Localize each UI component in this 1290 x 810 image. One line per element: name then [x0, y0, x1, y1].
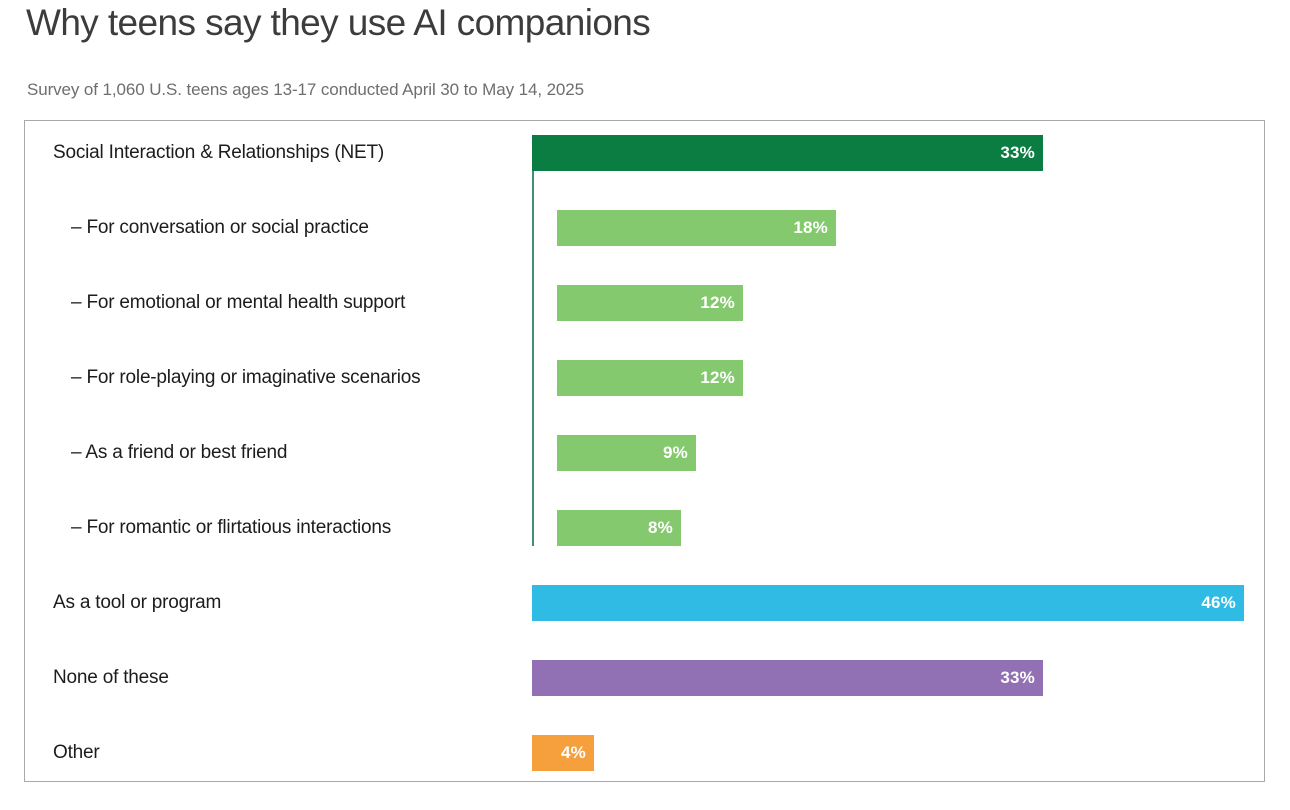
chart-row: As a tool or program46%	[25, 585, 1264, 621]
bar-value-label: 46%	[1201, 593, 1244, 613]
bar-net: 33%	[532, 135, 1043, 171]
bar-sub: 8%	[557, 510, 681, 546]
category-label: Other	[53, 742, 100, 764]
chart-row: None of these33%	[25, 660, 1264, 696]
bar-value-label: 8%	[648, 518, 681, 538]
chart-subtitle: Survey of 1,060 U.S. teens ages 13-17 co…	[27, 80, 584, 100]
chart-row: – For role-playing or imaginative scenar…	[25, 360, 1264, 396]
page-title: Why teens say they use AI companions	[26, 2, 650, 44]
bar-value-label: 33%	[1000, 143, 1043, 163]
bar-sub: 12%	[557, 285, 743, 321]
plot-area: Social Interaction & Relationships (NET)…	[24, 120, 1265, 782]
bar-sub: 9%	[557, 435, 696, 471]
chart-row: Social Interaction & Relationships (NET)…	[25, 135, 1264, 171]
category-label: – For romantic or flirtatious interactio…	[71, 517, 391, 539]
chart-row: Other4%	[25, 735, 1264, 771]
chart-row: – As a friend or best friend9%	[25, 435, 1264, 471]
category-label: Social Interaction & Relationships (NET)	[53, 142, 384, 164]
bar-value-label: 12%	[700, 368, 743, 388]
category-label: – For conversation or social practice	[71, 217, 369, 239]
bar-value-label: 4%	[561, 743, 594, 763]
chart-row: – For emotional or mental health support…	[25, 285, 1264, 321]
category-label: None of these	[53, 667, 169, 689]
bar-value-label: 9%	[663, 443, 696, 463]
bar-plain: 33%	[532, 660, 1043, 696]
bar-value-label: 12%	[700, 293, 743, 313]
category-label: – As a friend or best friend	[71, 442, 287, 464]
bar-plain: 46%	[532, 585, 1244, 621]
chart-row: – For romantic or flirtatious interactio…	[25, 510, 1264, 546]
bar-sub: 18%	[557, 210, 836, 246]
bar-plain: 4%	[532, 735, 594, 771]
chart-page: Why teens say they use AI companions Sur…	[0, 0, 1290, 810]
category-label: – For emotional or mental health support	[71, 292, 405, 314]
category-label: As a tool or program	[53, 592, 221, 614]
bar-value-label: 33%	[1000, 668, 1043, 688]
category-label: – For role-playing or imaginative scenar…	[71, 367, 420, 389]
chart-row: – For conversation or social practice18%	[25, 210, 1264, 246]
bar-sub: 12%	[557, 360, 743, 396]
bar-value-label: 18%	[793, 218, 836, 238]
